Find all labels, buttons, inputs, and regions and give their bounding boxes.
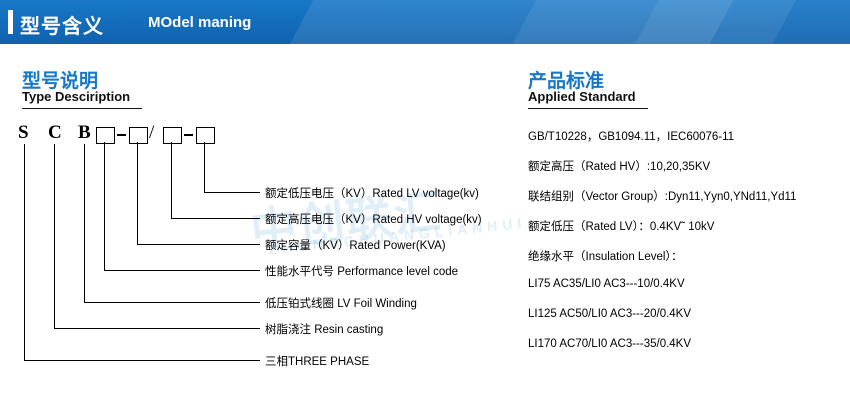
code-slash: / [149, 122, 154, 144]
leader-hline-7 [24, 360, 260, 361]
leader-vline-3 [137, 142, 138, 244]
code-box-2 [129, 127, 148, 144]
leader-vline-5 [84, 144, 85, 302]
spec-vector-group: 联结组别（Vector Group）:Dyn11,Yyn0,YNd11,Yd11 [528, 188, 796, 204]
right-section-underline [528, 108, 648, 109]
spec-insulation-20kv: LI125 AC50/LI0 AC3---20/0.4KV [528, 308, 691, 320]
code-box-4 [196, 127, 215, 144]
left-section-underline [22, 108, 142, 109]
leader-hline-6 [54, 328, 260, 329]
right-section-title-english: Applied Standard [528, 89, 636, 104]
annotation-rated-power: 额定容量（KV）Rated Power(KVA) [265, 237, 446, 253]
leader-vline-2 [171, 142, 172, 218]
code-box-3 [163, 127, 182, 144]
spec-insulation-35kv: LI170 AC70/LI0 AC3---35/0.4KV [528, 338, 691, 350]
header-accent-bar [8, 10, 13, 34]
left-section-title-english: Type Desciription [22, 89, 130, 104]
leader-hline-1 [204, 192, 260, 193]
leader-hline-2 [171, 218, 260, 219]
leader-vline-1 [204, 142, 205, 192]
spec-rated-lv: 额定低压（Rated LV）：0.4KV˜ 10kV [528, 218, 714, 234]
annotation-rated-hv-voltage: 额定高压电压（KV）Rated HV voltage(kv) [265, 211, 482, 227]
code-letter-b: B [78, 122, 91, 144]
code-dash-2 [184, 134, 193, 136]
spec-rated-hv: 额定高压（Rated HV）:10,20,35KV [528, 158, 710, 174]
annotation-three-phase: 三相THREE PHASE [265, 353, 369, 369]
page-header: 型号含义 MOdel maning [0, 0, 850, 44]
leader-vline-6 [54, 144, 55, 328]
header-title-english: MOdel maning [148, 14, 251, 31]
spec-insulation-level: 绝缘水平（Insulation Level）： [528, 248, 683, 264]
code-box-1 [96, 127, 115, 144]
code-letter-c: C [48, 122, 62, 144]
annotation-resin-casting: 树脂浇注 Resin casting [265, 321, 383, 337]
header-title-chinese: 型号含义 [20, 10, 104, 39]
spec-standards: GB/T10228，GB1094.11，IEC60076-11 [528, 128, 734, 144]
leader-hline-5 [84, 302, 260, 303]
leader-hline-3 [137, 244, 260, 245]
annotation-performance-level-code: 性能水平代号 Performance level code [265, 263, 458, 279]
annotation-lv-foil-winding: 低压铂式线圈 LV Foil Winding [265, 295, 417, 311]
code-dash-1 [117, 134, 126, 136]
leader-vline-7 [24, 144, 25, 360]
annotation-rated-lv-voltage: 额定低压电压（KV）Rated LV voltage(kv) [265, 185, 479, 201]
leader-hline-4 [104, 270, 260, 271]
code-letter-s: S [18, 122, 29, 144]
leader-vline-4 [104, 142, 105, 270]
spec-insulation-10kv: LI75 AC35/LI0 AC3---10/0.4KV [528, 278, 685, 290]
